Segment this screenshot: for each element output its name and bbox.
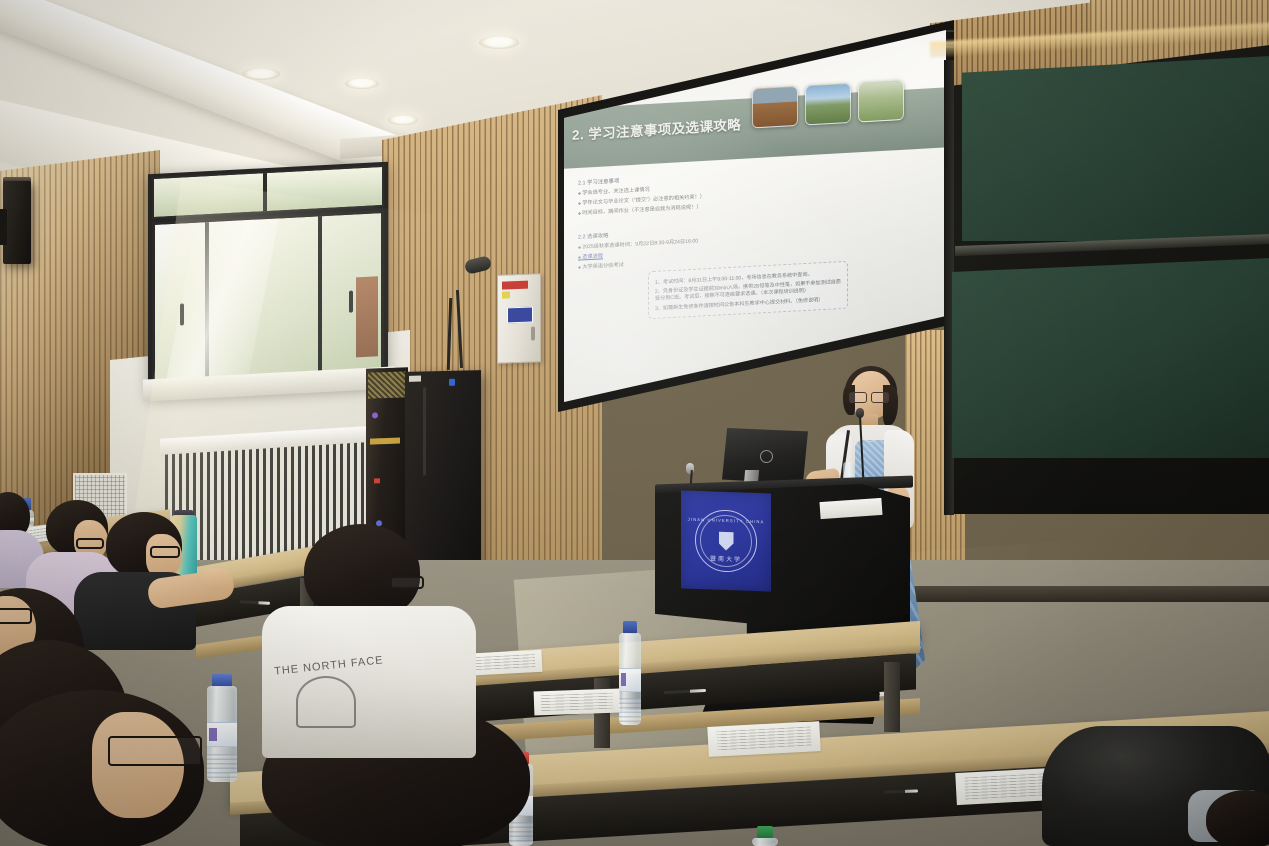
bottle-ribs [509,822,533,843]
panel-handle[interactable] [531,326,535,340]
floor-baseboard-right [900,586,1269,602]
slide-thumbnail-image [858,80,904,123]
panel-warning-label-red [502,281,528,290]
slide-callout-box: 1、考试时间：8月31日上午9:00-11:00，考场信息在教务系统中查询。 2… [648,261,848,320]
chalkboard-lower-panel[interactable] [952,258,1269,458]
window-exterior-brick [356,276,378,357]
panel-warning-label-yellow [502,291,510,298]
crest-shield-icon [719,531,734,551]
eyeglasses-icon [848,392,890,401]
rack-mesh-panel [368,371,406,398]
bottle-body [207,686,237,782]
crest-text-bottom: 暨南大学 [710,553,742,563]
desk-leg [884,662,900,732]
university-crest-icon: JINAN UNIVERSITY CHINA 暨南大学 [695,509,757,573]
chalkboard-upper-panel[interactable] [962,56,1269,241]
rack-led-red [374,478,380,483]
rack-door-seam [423,387,426,475]
window-handle[interactable] [349,291,353,313]
monitor-brand-logo [760,450,773,463]
student-hand [200,568,232,590]
slide-body: 2.1 学习注意事项 学会选专业、关注选上课情况 学年论文与毕业论文（“提交”）… [578,157,908,274]
paper-sheet[interactable] [534,689,621,716]
window-mullion [318,216,322,382]
rack-cable-yellow [370,438,400,445]
water-bottle[interactable] [619,621,641,725]
crest-text-top: JINAN UNIVERSITY CHINA [688,517,765,525]
paper-lines [541,693,614,712]
window-handle[interactable] [180,303,184,325]
rack-power-led [449,379,455,386]
student-shirt [262,606,476,758]
eyeglasses-icon [0,608,32,624]
downlight-icon [345,78,379,89]
bottle-body [619,633,641,725]
necklace [862,431,878,442]
water-bottle[interactable] [207,674,237,782]
gooseneck-mic-head-icon [856,408,864,418]
bottle-ribs [619,698,641,722]
downlight-icon [479,36,519,49]
eyeglasses-icon [150,546,180,558]
podium-university-plate: JINAN UNIVERSITY CHINA 暨南大学 [681,490,771,591]
podium-monitor[interactable] [722,428,808,484]
paper-lines [716,726,811,751]
bottle-label [207,722,237,747]
window[interactable] [148,162,388,399]
rack-asset-tag [409,376,421,382]
eyeglasses-icon [108,736,202,766]
eyeglasses-icon [390,576,424,589]
lecture-hall-photo: 2. 学习注意事项及选课攻略 2.1 学习注意事项 学会选专业、关注选上课情况 … [0,0,1269,846]
rack-led-purple [372,412,378,418]
bottle-body [752,838,778,846]
paper-sheet[interactable] [707,721,820,757]
downlight-icon [388,115,418,125]
wall-speaker-icon [3,181,31,264]
projection-screen[interactable]: 2. 学习注意事项及选课攻略 2.1 学习注意事项 学会选专业、关注选上课情况 … [556,20,956,420]
water-bottle[interactable] [752,826,778,846]
downlight-icon [242,68,280,80]
panel-info-label-blue [507,307,533,324]
electrical-panel[interactable] [497,273,541,364]
bottle-label [619,668,641,692]
window-glare [156,210,280,394]
window-main-panes [152,210,384,394]
eyeglasses-icon [76,538,104,549]
tshirt-graphic [296,676,356,728]
